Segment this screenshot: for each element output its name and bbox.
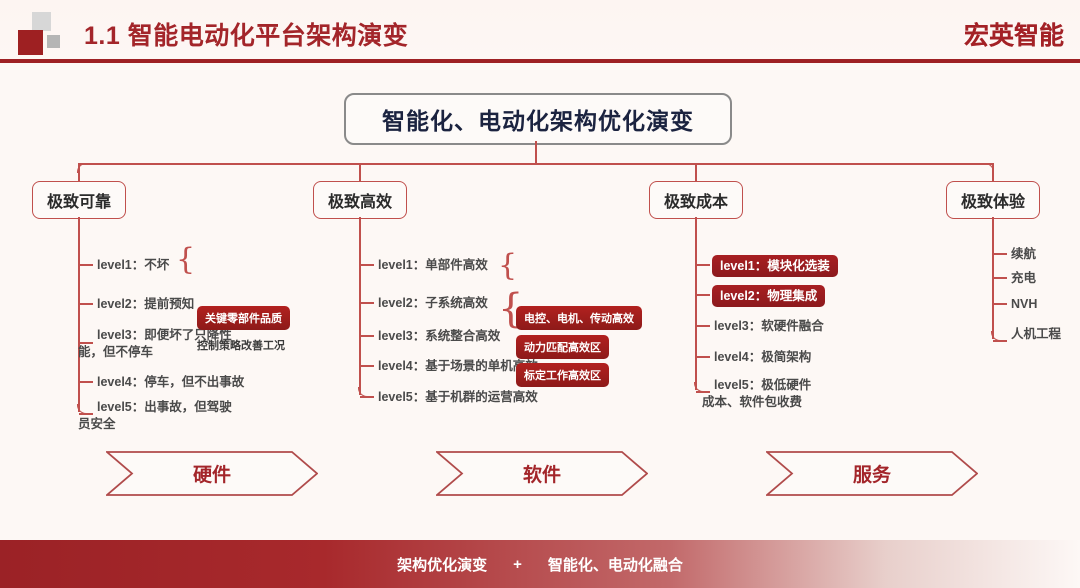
branch1-brace: {: [176, 245, 195, 275]
branch3-tick-1: [696, 264, 710, 266]
branch3-item-1[interactable]: level1：模块化选装: [712, 255, 838, 277]
branch3-tick-4: [696, 356, 710, 358]
logo-square-gray-large: [32, 12, 51, 31]
branch2-item-5[interactable]: level5：基于机群的运营高效: [378, 389, 538, 405]
branch1-item-5-line2: 员安全: [78, 416, 116, 432]
connector-bus: [78, 163, 993, 165]
branch3-item-5[interactable]: level5：极低硬件: [714, 377, 811, 393]
chevron-software[interactable]: 软件: [436, 451, 648, 496]
page-header: 1.1 智能电动化平台架构演变 宏英智能: [0, 0, 1080, 62]
chevron-hardware[interactable]: 硬件: [106, 451, 318, 496]
branch2-tick-1: [360, 264, 374, 266]
branch-spine-1: [78, 217, 80, 412]
branch1-tick-1: [79, 264, 93, 266]
footer-right-text: 智能化、电动化融合: [548, 554, 683, 575]
branch2-item-3[interactable]: level3：系统整合高效: [378, 328, 500, 344]
branch2-tick-3: [360, 335, 374, 337]
branch2-item-1[interactable]: level1：单部件高效: [378, 257, 488, 273]
branch1-item-1[interactable]: level1：不坏: [97, 257, 169, 273]
category-node-1[interactable]: 极致可靠: [32, 181, 126, 219]
branch1-tick-2: [79, 303, 93, 305]
branch2-tick-5: [360, 396, 374, 398]
connector-drop-3: [695, 163, 697, 181]
branch2-item-4[interactable]: level4：基于场景的单机高效: [378, 358, 538, 374]
connector-drop-4: [992, 163, 994, 181]
chevron-service[interactable]: 服务: [766, 451, 978, 496]
branch1-note-1: 控制策略改善工况: [197, 337, 285, 353]
branch2-badge-3[interactable]: 标定工作高效区: [516, 363, 609, 387]
category-node-2[interactable]: 极致高效: [313, 181, 407, 219]
footer-plus-symbol: +: [513, 556, 522, 573]
branch4-tick-2: [993, 277, 1007, 279]
branch1-badge-1[interactable]: 关键零部件品质: [197, 306, 290, 330]
branch4-item-3[interactable]: NVH: [1011, 296, 1037, 312]
connector-drop-2: [359, 163, 361, 181]
branch4-item-4[interactable]: 人机工程: [1011, 326, 1061, 342]
branch2-badge-2[interactable]: 动力匹配高效区: [516, 335, 609, 359]
branch2-brace-1: {: [498, 251, 517, 281]
branch3-item-4[interactable]: level4：极简架构: [714, 349, 811, 365]
branch1-tick-4: [79, 381, 93, 383]
branch-spine-2: [359, 217, 361, 395]
branch3-tick-5: [696, 391, 710, 393]
branch3-item-3[interactable]: level3：软硬件融合: [714, 318, 824, 334]
branch2-tick-2: [360, 302, 374, 304]
root-node: 智能化、电动化架构优化演变: [344, 93, 732, 145]
branch1-item-3-line2: 能，但不停车: [78, 344, 153, 360]
branch1-item-5[interactable]: level5：出事故，但驾驶: [97, 399, 232, 415]
branch2-item-2[interactable]: level2：子系统高效: [378, 295, 488, 311]
page-footer: 架构优化演变 + 智能化、电动化融合: [0, 540, 1080, 588]
chevron-service-label: 服务: [766, 451, 978, 496]
connector-root-stem: [535, 141, 537, 163]
branch-spine-3: [695, 217, 697, 390]
branch4-tick-4: [993, 340, 1007, 342]
chevron-software-label: 软件: [436, 451, 648, 496]
branch3-tick-2: [696, 294, 710, 296]
brand-logo-text: 宏英智能: [964, 16, 1064, 52]
branch3-item-5-line2: 成本、软件包收费: [702, 394, 802, 410]
branch4-tick-3: [993, 303, 1007, 305]
branch2-tick-4: [360, 365, 374, 367]
branch1-tick-5: [79, 413, 93, 415]
branch4-tick-1: [993, 253, 1007, 255]
branch1-item-4[interactable]: level4：停车，但不出事故: [97, 374, 244, 390]
page-title: 1.1 智能电动化平台架构演变: [84, 16, 408, 52]
logo-square-gray-small: [47, 35, 60, 48]
footer-left-text: 架构优化演变: [397, 554, 487, 575]
logo-square-red: [18, 30, 43, 55]
branch1-item-2[interactable]: level2：提前预知: [97, 296, 194, 312]
diagram-canvas: 智能化、电动化架构优化演变 极致可靠 level1：不坏 level2：提前预知…: [0, 63, 1080, 540]
logo-mark: [18, 12, 64, 54]
branch3-tick-3: [696, 325, 710, 327]
connector-drop-1: [78, 163, 80, 181]
branch2-badge-1[interactable]: 电控、电机、传动高效: [516, 306, 642, 330]
category-node-4[interactable]: 极致体验: [946, 181, 1040, 219]
category-node-3[interactable]: 极致成本: [649, 181, 743, 219]
branch4-item-2[interactable]: 充电: [1011, 270, 1036, 286]
branch3-item-2[interactable]: level2：物理集成: [712, 285, 825, 307]
chevron-hardware-label: 硬件: [106, 451, 318, 496]
branch4-item-1[interactable]: 续航: [1011, 246, 1036, 262]
